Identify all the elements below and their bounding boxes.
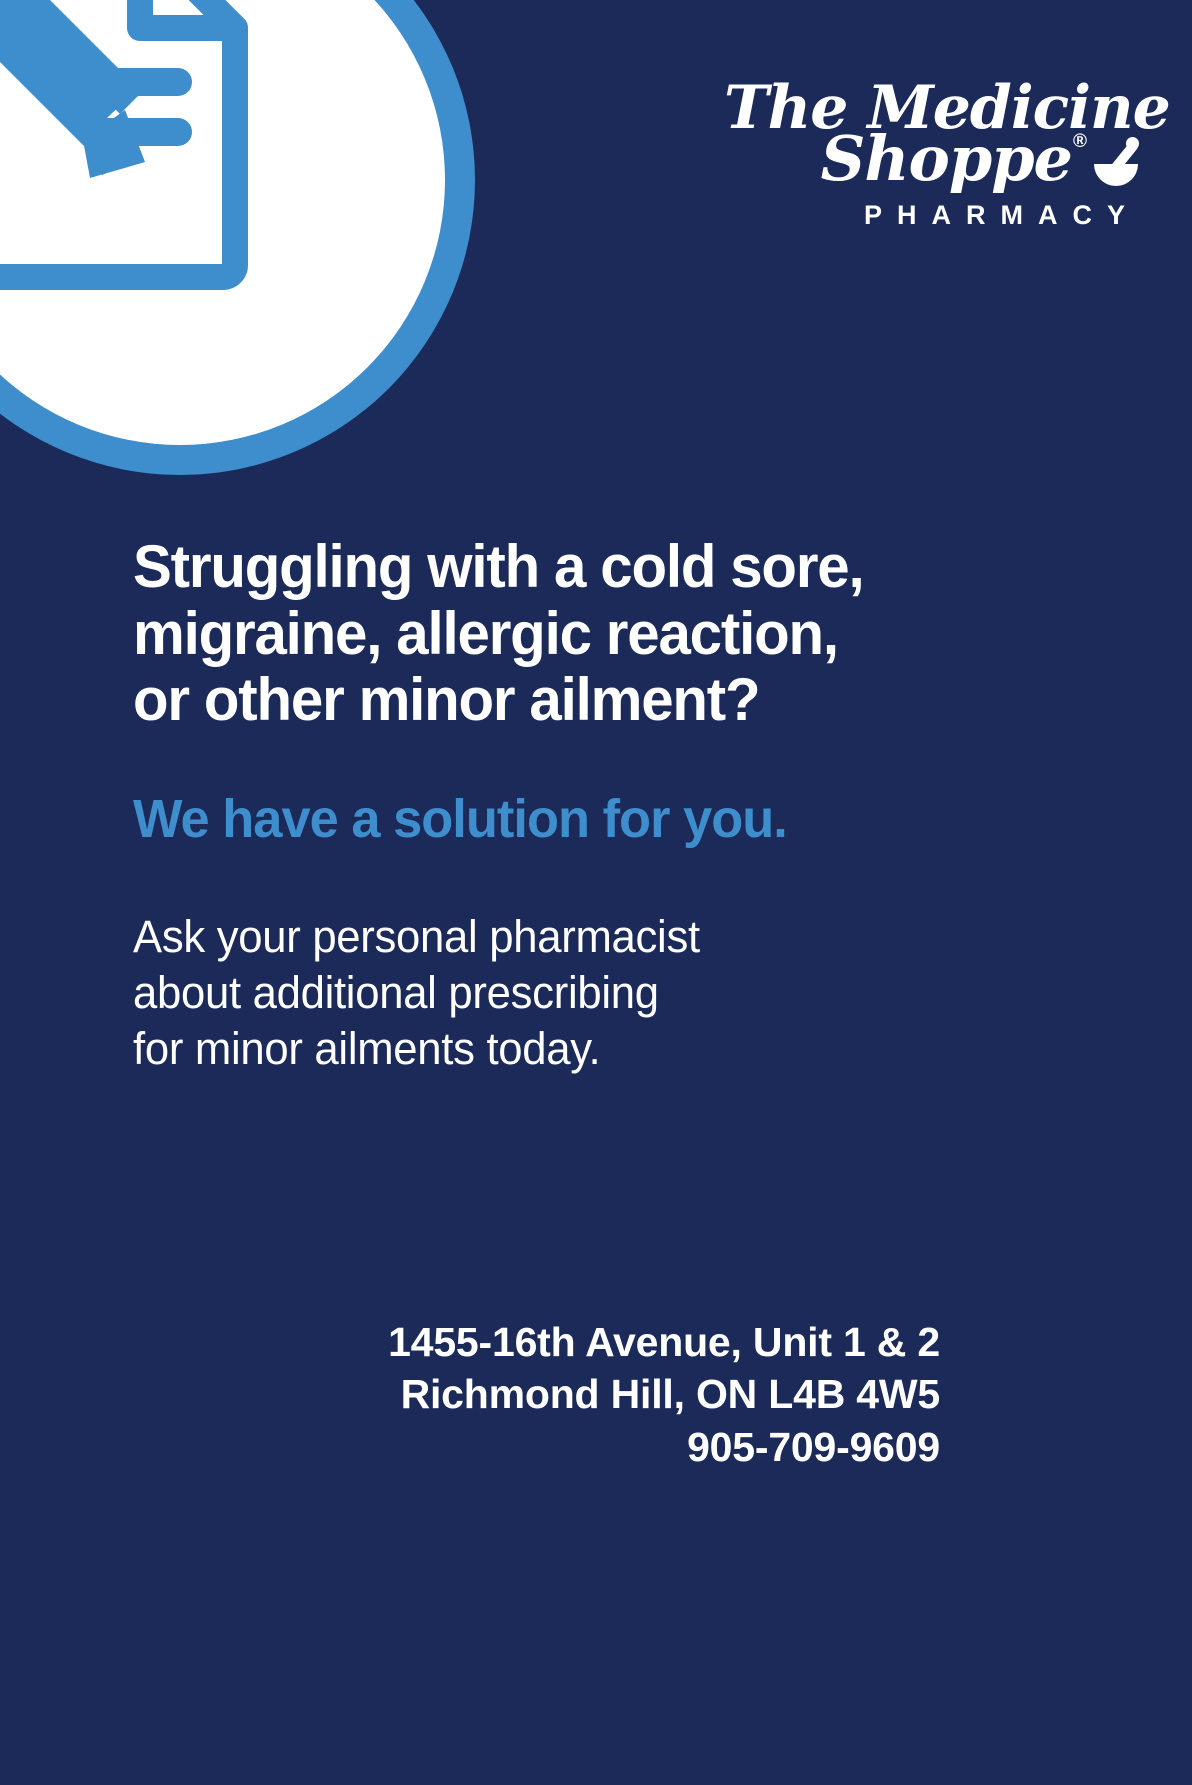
brand-logo: The Medicine Shoppe ® PHARMACY [724, 78, 1144, 229]
registered-trademark-icon: ® [1073, 132, 1087, 151]
brand-logo-subtitle: PHARMACY [724, 202, 1140, 229]
mortar-and-pestle-icon [1090, 134, 1142, 186]
body-copy-line-3: for minor ailments today. [133, 1021, 1045, 1077]
address-phone[interactable]: 905-709-9609 [388, 1421, 940, 1473]
body-copy: Ask your personal pharmacist about addit… [133, 909, 1045, 1076]
page-title: Struggling with a cold sore, migraine, a… [133, 534, 1045, 734]
body-copy-line-1: Ask your personal pharmacist [133, 909, 1045, 965]
circle-badge-inner [0, 0, 445, 445]
subheadline: We have a solution for you. [133, 790, 1045, 849]
address-street: 1455-16th Avenue, Unit 1 & 2 [388, 1316, 940, 1368]
body-copy-line-2: about additional prescribing [133, 965, 1045, 1021]
poster-canvas: The Medicine Shoppe ® PHARMACY Strugglin… [0, 0, 1192, 1785]
address-city-province-postal: Richmond Hill, ON L4B 4W5 [388, 1368, 940, 1420]
headline-line-2: migraine, allergic reaction, [133, 601, 1045, 668]
brand-logo-line-2: Shoppe [821, 128, 1072, 190]
headline-line-1: Struggling with a cold sore, [133, 534, 1045, 601]
headline-line-3: or other minor ailment? [133, 667, 1045, 734]
copy-block: Struggling with a cold sore, migraine, a… [133, 534, 1073, 1077]
document-with-pencil-icon [0, 0, 310, 310]
address-block: 1455-16th Avenue, Unit 1 & 2 Richmond Hi… [388, 1316, 940, 1473]
circle-badge [0, 0, 475, 475]
